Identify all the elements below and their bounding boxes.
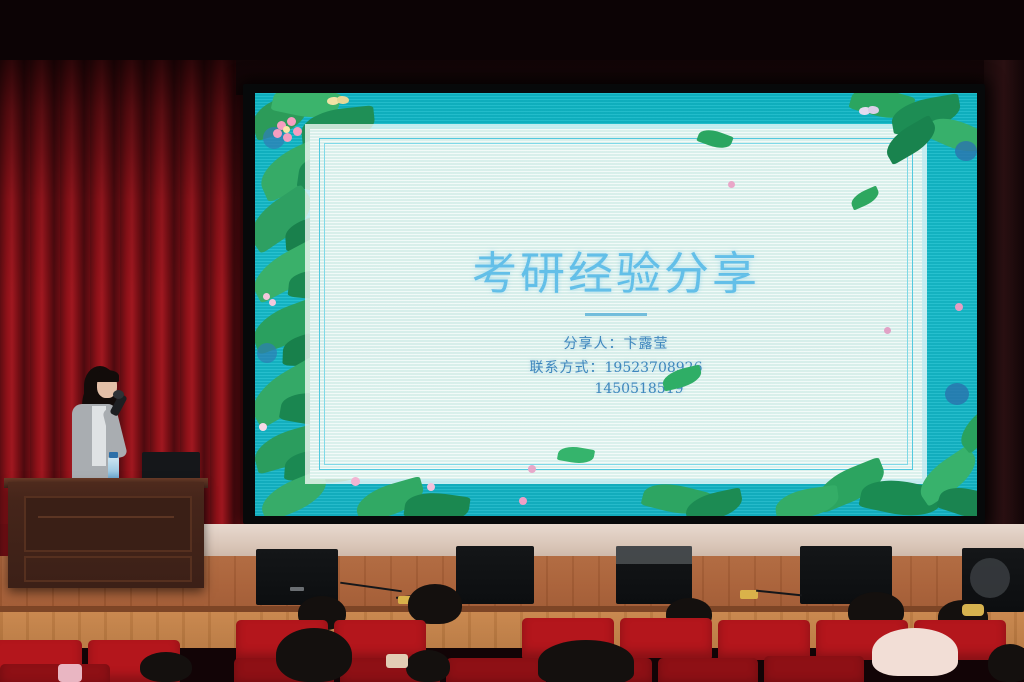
slide-contact-secondary: 1450518519 (310, 381, 922, 397)
frame-inner-line (324, 143, 908, 465)
flower-accent-inner-bottom (528, 465, 536, 473)
podium-panel-upper (24, 496, 192, 552)
podium-panel-lower (24, 556, 192, 582)
photograph-scene: 考研经验分享 分享人：卞露莹 联系方式：19523708926 14505185… (0, 0, 1024, 682)
pa-speaker-2 (456, 546, 534, 604)
flower-accent-inner-top (728, 181, 735, 188)
audience-head-r1-4 (988, 644, 1024, 682)
audience-head-r1-3 (538, 640, 634, 682)
contact-label: 联系方式： (530, 360, 605, 376)
podium (8, 482, 204, 588)
slide-inner-panel: 考研经验分享 分享人：卞露莹 联系方式：19523708926 14505185… (310, 129, 922, 479)
audience-head-r1-2 (406, 650, 450, 682)
presenter-fringe (95, 370, 119, 382)
flower-accent-inner-right (884, 327, 891, 334)
audience-head-r1-1 (276, 628, 352, 682)
slide-contact-line: 联系方式：19523708926 (310, 357, 922, 377)
audience-paper (386, 654, 408, 668)
led-screen: 考研经验分享 分享人：卞露莹 联系方式：19523708926 14505185… (255, 93, 977, 516)
audience-item-pink (58, 664, 82, 682)
flower-accent-border-right (955, 303, 963, 311)
audience-head-r0-2 (408, 584, 462, 624)
podium-chevron-detail (38, 516, 174, 518)
laptop-screen (142, 452, 200, 480)
ceiling-shadow (0, 0, 1024, 60)
water-bottle-cap (109, 452, 118, 458)
flower-accent-border-bottom (519, 497, 527, 505)
audience-pink-hoodie (872, 628, 958, 676)
slide-title: 考研经验分享 (310, 237, 922, 302)
title-divider-rule (585, 313, 647, 316)
right-side-wall (984, 60, 1024, 560)
slide-presenter-line: 分享人：卞露莹 (310, 333, 922, 353)
pa-speaker-3 (616, 546, 692, 604)
audience-head-r1-5 (140, 652, 192, 682)
hair-clip-ornament (962, 604, 984, 616)
microphone-head (113, 390, 124, 399)
